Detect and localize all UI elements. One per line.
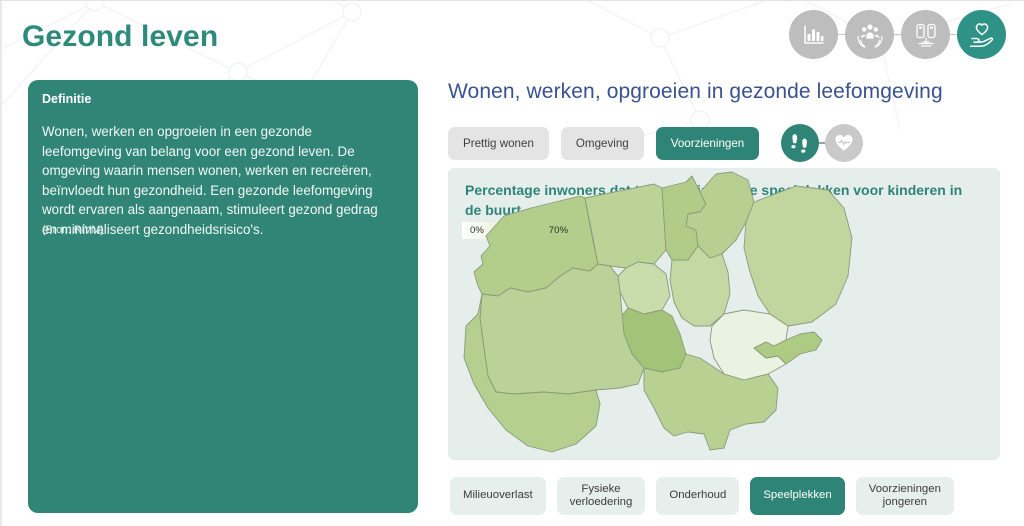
subtab-omgeving[interactable]: Omgeving — [561, 127, 644, 160]
theme-icon-balance-scale-people[interactable] — [901, 10, 950, 59]
legend-min-label: 0% — [470, 225, 484, 236]
indicator-button-onderhoud[interactable]: Onderhoud — [656, 477, 739, 515]
heart-pulse-icon[interactable] — [825, 124, 863, 162]
app-root: Gezond leven — [0, 0, 1024, 526]
legend-max-label: 70% — [549, 225, 568, 236]
definition-body: Wonen, werken en opgroeien in een gezond… — [42, 122, 394, 240]
viewport-top-edge — [0, 0, 1024, 1]
map-panel: Percentage inwoners dat tevreden is met … — [448, 168, 1000, 460]
definition-heading: Definitie — [42, 92, 91, 106]
theme-icon-hand-heart[interactable] — [957, 10, 1006, 59]
map-region — [618, 262, 670, 314]
choropleth-map[interactable] — [448, 168, 1000, 460]
footsteps-icon[interactable] — [781, 124, 819, 162]
indicator-button-voorzieningen-jongeren[interactable]: Voorzieningen jongeren — [856, 477, 954, 515]
subtab-prettig-wonen[interactable]: Prettig wonen — [448, 127, 549, 160]
definition-source: (Bron: RIVM) — [42, 224, 104, 236]
section-title: Wonen, werken, opgroeien in gezonde leef… — [448, 80, 943, 104]
theme-icon-rail — [789, 10, 1006, 59]
indicator-button-fysieke-verloedering[interactable]: Fysieke verloedering — [557, 477, 646, 515]
indicator-button-speelplekken[interactable]: Speelplekken — [750, 477, 844, 515]
indicator-button-row: Milieuoverlast Fysieke verloedering Onde… — [450, 477, 965, 515]
page-title: Gezond leven — [22, 20, 218, 54]
theme-icon-hands-people[interactable] — [845, 10, 894, 59]
subtab-row: Prettig wonen Omgeving Voorzieningen — [448, 124, 863, 162]
theme-icon-bar-chart[interactable] — [789, 10, 838, 59]
indicator-pair — [781, 124, 863, 162]
indicator-button-milieuoverlast[interactable]: Milieuoverlast — [450, 477, 546, 515]
definition-card: Definitie Wonen, werken en opgroeien in … — [28, 80, 418, 513]
map-region — [585, 184, 666, 268]
map-region — [744, 186, 852, 326]
viewport-left-edge — [0, 0, 2, 526]
subtab-voorzieningen[interactable]: Voorzieningen — [656, 127, 760, 160]
